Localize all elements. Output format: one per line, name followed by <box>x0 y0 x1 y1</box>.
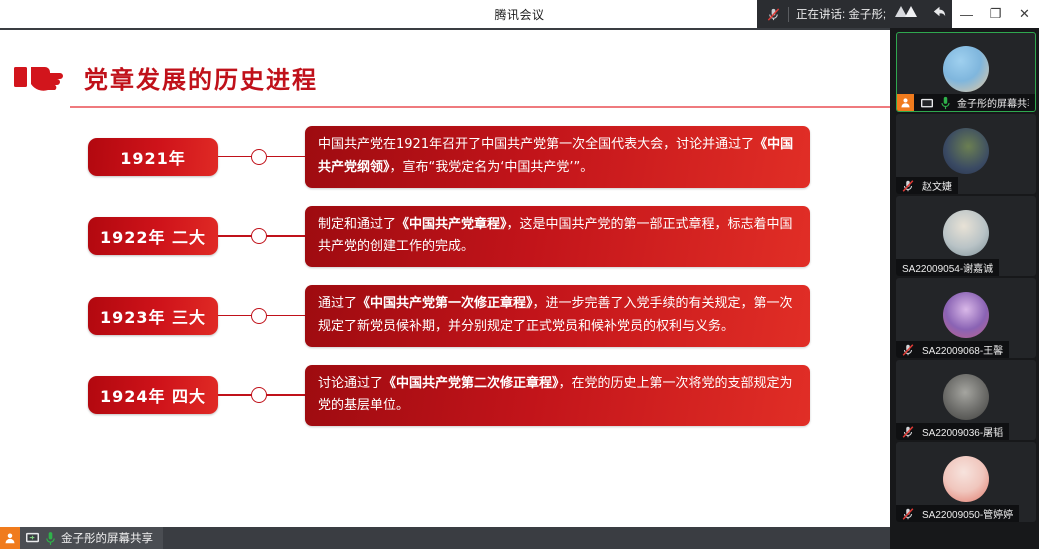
minimize-button[interactable]: — <box>954 1 980 27</box>
meeting-window: 腾讯会议 正在讲话: 金子彤; <box>0 0 1039 549</box>
connector-dot <box>251 228 267 244</box>
timeline-row: 1923年 三大 通过了《中国共产党第一次修正章程》，进一步完善了入党手续的有关… <box>0 285 890 347</box>
participant-nameplate: 赵文婕 <box>896 177 958 194</box>
connector-dot <box>251 387 267 403</box>
timeline-connector <box>218 228 305 244</box>
participant-name: 赵文婕 <box>920 178 952 193</box>
participant-name: 金子彤的屏幕共享 <box>955 95 1029 110</box>
participant-tile[interactable]: SA22009068-王馨 <box>896 278 1036 358</box>
participant-name: SA22009050-管婷婷 <box>920 506 1013 521</box>
taskbar-label: 金子彤的屏幕共享 <box>61 530 153 546</box>
avatar <box>943 292 989 338</box>
timeline-description: 讨论通过了《中国共产党第二次修正章程》，在党的历史上第一次将党的支部规定为党的基… <box>305 365 810 427</box>
participant-name: SA22009068-王馨 <box>920 342 1003 357</box>
window-controls: — ❐ ✕ <box>952 0 1039 28</box>
close-button[interactable]: ✕ <box>1012 1 1038 27</box>
avatar <box>943 128 989 174</box>
participant-tile[interactable]: 赵文婕 <box>896 114 1036 194</box>
year-badge: 1921年 <box>88 138 218 176</box>
participant-nameplate: SA22009050-管婷婷 <box>896 505 1019 522</box>
mic-muted-icon <box>901 425 916 439</box>
audio-wave-icon <box>894 3 928 26</box>
timeline-row: 1921年 中国共产党在1921年召开了中国共产党第一次全国代表大会，讨论并通过… <box>0 126 890 188</box>
timeline-description: 中国共产党在1921年召开了中国共产党第一次全国代表大会，讨论并通过了《中国共产… <box>305 126 810 188</box>
chip-divider <box>788 7 789 22</box>
mic-muted-icon <box>901 179 916 193</box>
timeline-list: 1921年 中国共产党在1921年召开了中国共产党第一次全国代表大会，讨论并通过… <box>0 126 890 444</box>
participant-panel[interactable]: 金子彤的屏幕共享 赵文婕 SA22009054-谢嘉诚 <box>890 28 1039 549</box>
title-underline <box>70 106 890 108</box>
audio-controls-group[interactable] <box>890 0 952 28</box>
year-badge: 1922年 二大 <box>88 217 218 255</box>
speaking-label: 正在讲话: 金子彤; <box>796 6 886 22</box>
screen-share-icon <box>25 532 40 545</box>
timeline-row: 1922年 二大 制定和通过了《中国共产党章程》，这是中国共产党的第一部正式章程… <box>0 206 890 268</box>
mic-muted-icon <box>766 7 781 22</box>
back-arrow-icon[interactable] <box>931 3 948 25</box>
timeline-connector <box>218 308 305 324</box>
participant-tile[interactable]: SA22009050-管婷婷 <box>896 442 1036 522</box>
year-badge: 1923年 三大 <box>88 297 218 335</box>
timeline-connector <box>218 387 305 403</box>
participant-nameplate: 金子彤的屏幕共享 <box>897 94 1035 111</box>
mic-icon <box>45 531 56 546</box>
participant-tile[interactable]: SA22009036-屠韬 <box>896 360 1036 440</box>
person-icon <box>0 527 20 549</box>
window-titlebar: 腾讯会议 正在讲话: 金子彤; <box>0 0 1039 28</box>
participant-name: SA22009054-谢嘉诚 <box>896 260 993 275</box>
screen-share-taskbar: 金子彤的屏幕共享 <box>0 527 890 549</box>
timeline-description: 通过了《中国共产党第一次修正章程》，进一步完善了入党手续的有关规定，第一次规定了… <box>305 285 810 347</box>
avatar <box>943 46 989 92</box>
mic-muted-icon <box>901 343 916 357</box>
screen-share-chip[interactable]: 金子彤的屏幕共享 <box>0 527 163 549</box>
participant-tile[interactable]: 金子彤的屏幕共享 <box>896 32 1036 112</box>
connector-dot <box>251 149 267 165</box>
avatar <box>943 374 989 420</box>
shared-screen-slide: 党章发展的历史进程 1921年 中国共产党在1921年召开了中国共产党第一次全国… <box>0 28 890 522</box>
slide-top-border <box>0 28 890 30</box>
avatar <box>943 456 989 502</box>
slide-header: 党章发展的历史进程 <box>0 46 890 116</box>
participant-nameplate: SA22009068-王馨 <box>896 341 1009 358</box>
page-title: 党章发展的历史进程 <box>84 60 318 95</box>
pointing-hand-icon <box>12 60 68 94</box>
person-icon <box>897 94 914 111</box>
timeline-row: 1924年 四大 讨论通过了《中国共产党第二次修正章程》，在党的历史上第一次将党… <box>0 365 890 427</box>
mic-icon <box>940 96 951 110</box>
year-badge: 1924年 四大 <box>88 376 218 414</box>
participant-nameplate: SA22009054-谢嘉诚 <box>896 259 999 276</box>
participant-nameplate: SA22009036-屠韬 <box>896 423 1009 440</box>
maximize-button[interactable]: ❐ <box>983 1 1009 27</box>
mic-muted-icon <box>901 507 916 521</box>
participant-name: SA22009036-屠韬 <box>920 424 1003 439</box>
connector-dot <box>251 308 267 324</box>
timeline-connector <box>218 149 305 165</box>
participant-tile[interactable]: SA22009054-谢嘉诚 <box>896 196 1036 276</box>
timeline-description: 制定和通过了《中国共产党章程》，这是中国共产党的第一部正式章程，标志着中国共产党… <box>305 206 810 268</box>
screen-share-icon <box>920 97 934 109</box>
avatar <box>943 210 989 256</box>
